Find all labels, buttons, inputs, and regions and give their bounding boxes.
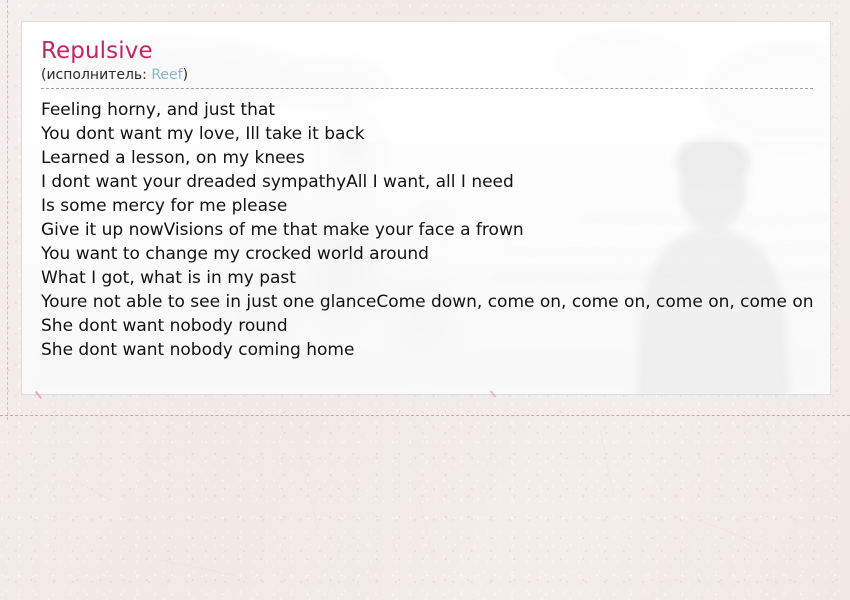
lyrics-line: What I got, what is in my past <box>41 266 830 290</box>
lyrics-line: I dont want your dreaded sympathyAll I w… <box>41 170 830 194</box>
artist-suffix-label: ) <box>183 67 188 83</box>
artist-line: (исполнитель: Reef) <box>41 66 830 85</box>
lyrics-line: Give it up nowVisions of me that make yo… <box>41 218 830 242</box>
lyrics-line: Feeling horny, and just that <box>41 98 830 122</box>
artist-link[interactable]: Reef <box>151 67 182 83</box>
page-bottom-dashed-rule <box>0 415 850 416</box>
lyrics-line: You want to change my crocked world arou… <box>41 242 830 266</box>
artist-prefix-label: (исполнитель: <box>41 67 151 83</box>
lyrics-line: Learned a lesson, on my knees <box>41 146 830 170</box>
lyrics-list: Feeling horny, and just that You dont wa… <box>41 98 830 362</box>
lyrics-line: Is some mercy for me please <box>41 194 830 218</box>
lyrics-line: Youre not able to see in just one glance… <box>41 290 830 314</box>
song-title: Repulsive <box>41 37 830 65</box>
lyrics-line: She dont want nobody round <box>41 314 830 338</box>
lyrics-line: She dont want nobody coming home <box>41 338 830 362</box>
lyrics-line: You dont want my love, Ill take it back <box>41 122 830 146</box>
song-card: Repulsive (исполнитель: Reef) Feeling ho… <box>21 21 831 395</box>
title-divider <box>41 88 813 89</box>
page-left-vertical-rule <box>7 0 8 420</box>
